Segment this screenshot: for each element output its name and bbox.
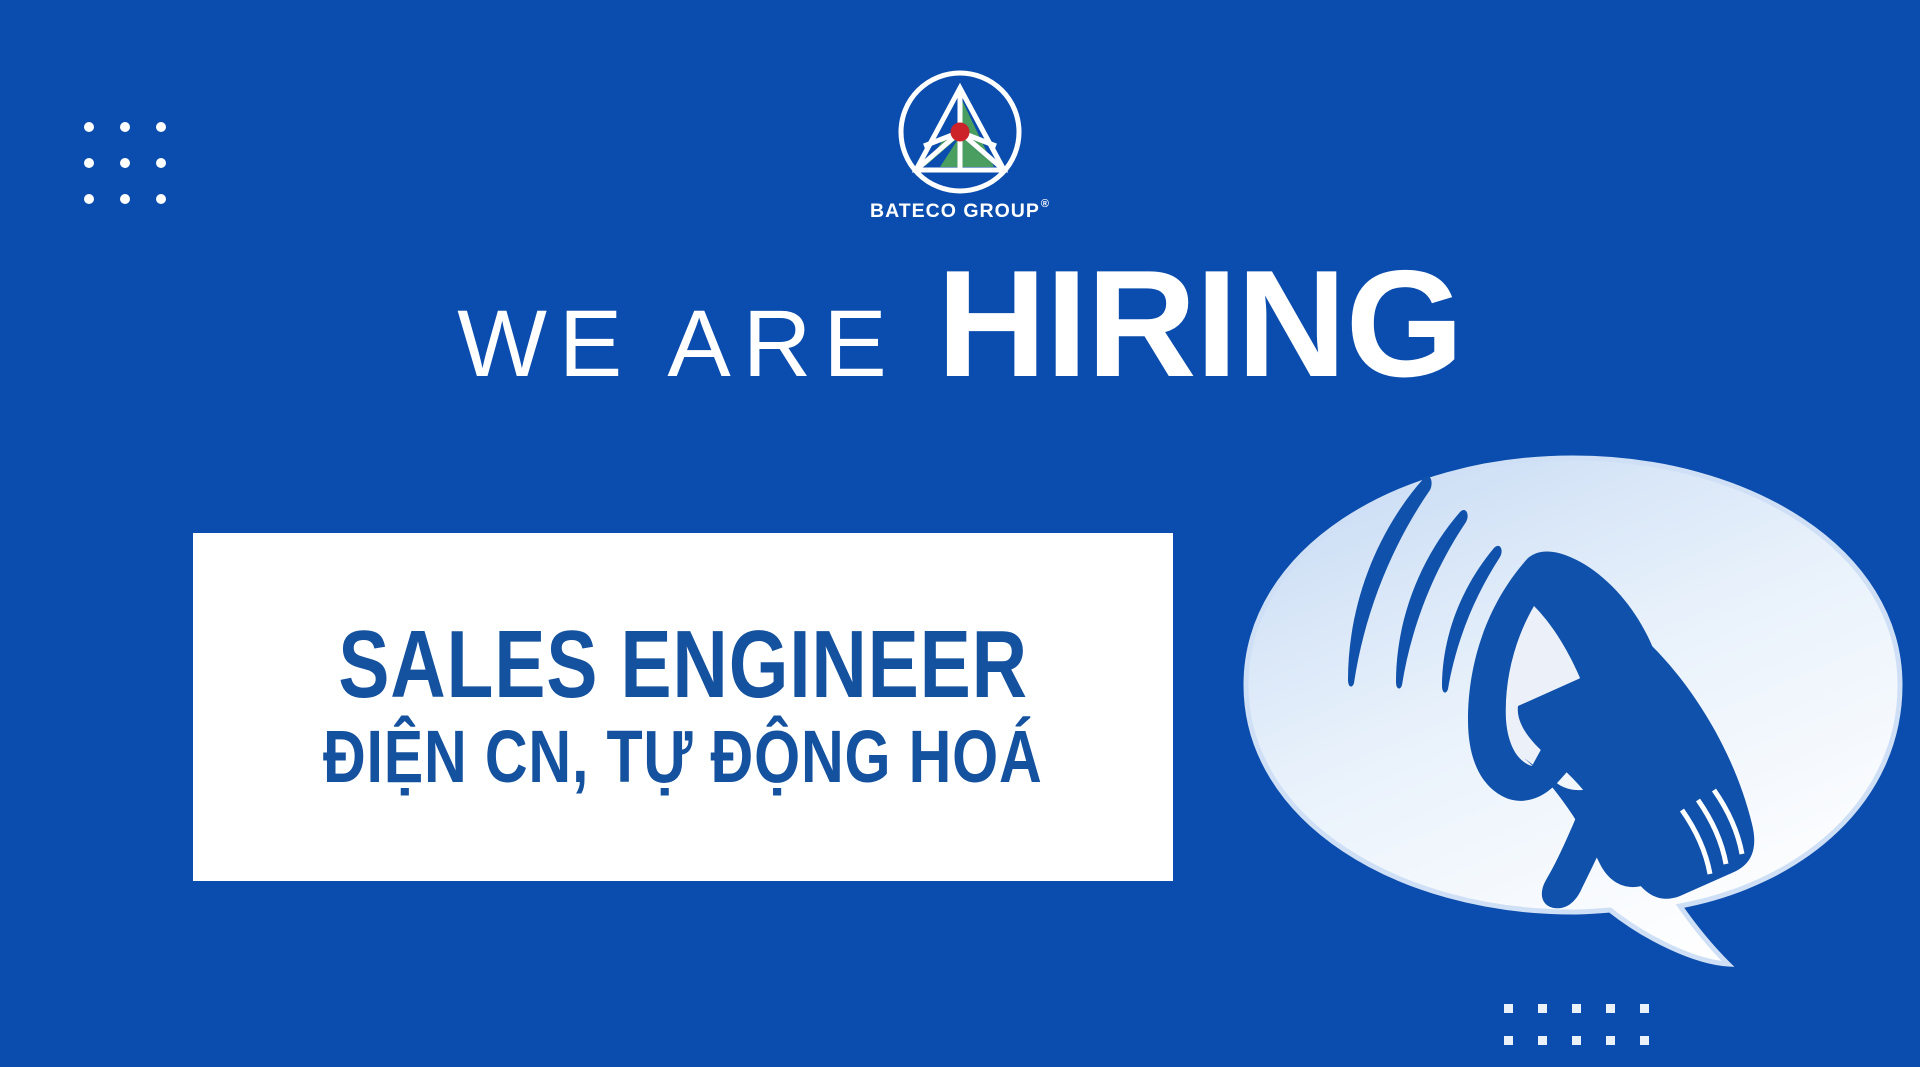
decorative-dot-grid-bottom-right xyxy=(1504,1004,1649,1045)
dot xyxy=(1504,1004,1513,1013)
company-name-text: BATECO GROUP xyxy=(870,202,1040,222)
company-logo-block: BATECO GROUP ® xyxy=(0,66,1920,222)
company-wordmark: BATECO GROUP ® xyxy=(870,202,1050,222)
dot xyxy=(1538,1036,1547,1045)
megaphone-in-speech-bubble-icon xyxy=(1228,440,1918,980)
dot xyxy=(1640,1004,1649,1013)
dot xyxy=(1640,1036,1649,1045)
dot xyxy=(1538,1004,1547,1013)
job-subtitle: ĐIỆN CN, TỰ ĐỘNG HOÁ xyxy=(323,716,1043,797)
hiring-banner: BATECO GROUP ® WE ARE HIRING SALES ENGIN… xyxy=(0,0,1920,1067)
job-title: SALES ENGINEER xyxy=(338,616,1028,714)
dot xyxy=(1606,1004,1615,1013)
dot xyxy=(1504,1036,1513,1045)
headline-hiring: HIRING xyxy=(937,248,1463,400)
headline-we-are: WE ARE xyxy=(457,297,899,392)
page-headline: WE ARE HIRING xyxy=(0,248,1920,400)
dot xyxy=(1572,1036,1581,1045)
registered-trademark-icon: ® xyxy=(1041,199,1050,210)
dot xyxy=(1572,1004,1581,1013)
bateco-triangle-circle-logo-icon xyxy=(894,66,1026,198)
job-position-card: SALES ENGINEER ĐIỆN CN, TỰ ĐỘNG HOÁ xyxy=(193,533,1173,881)
dot xyxy=(1606,1036,1615,1045)
